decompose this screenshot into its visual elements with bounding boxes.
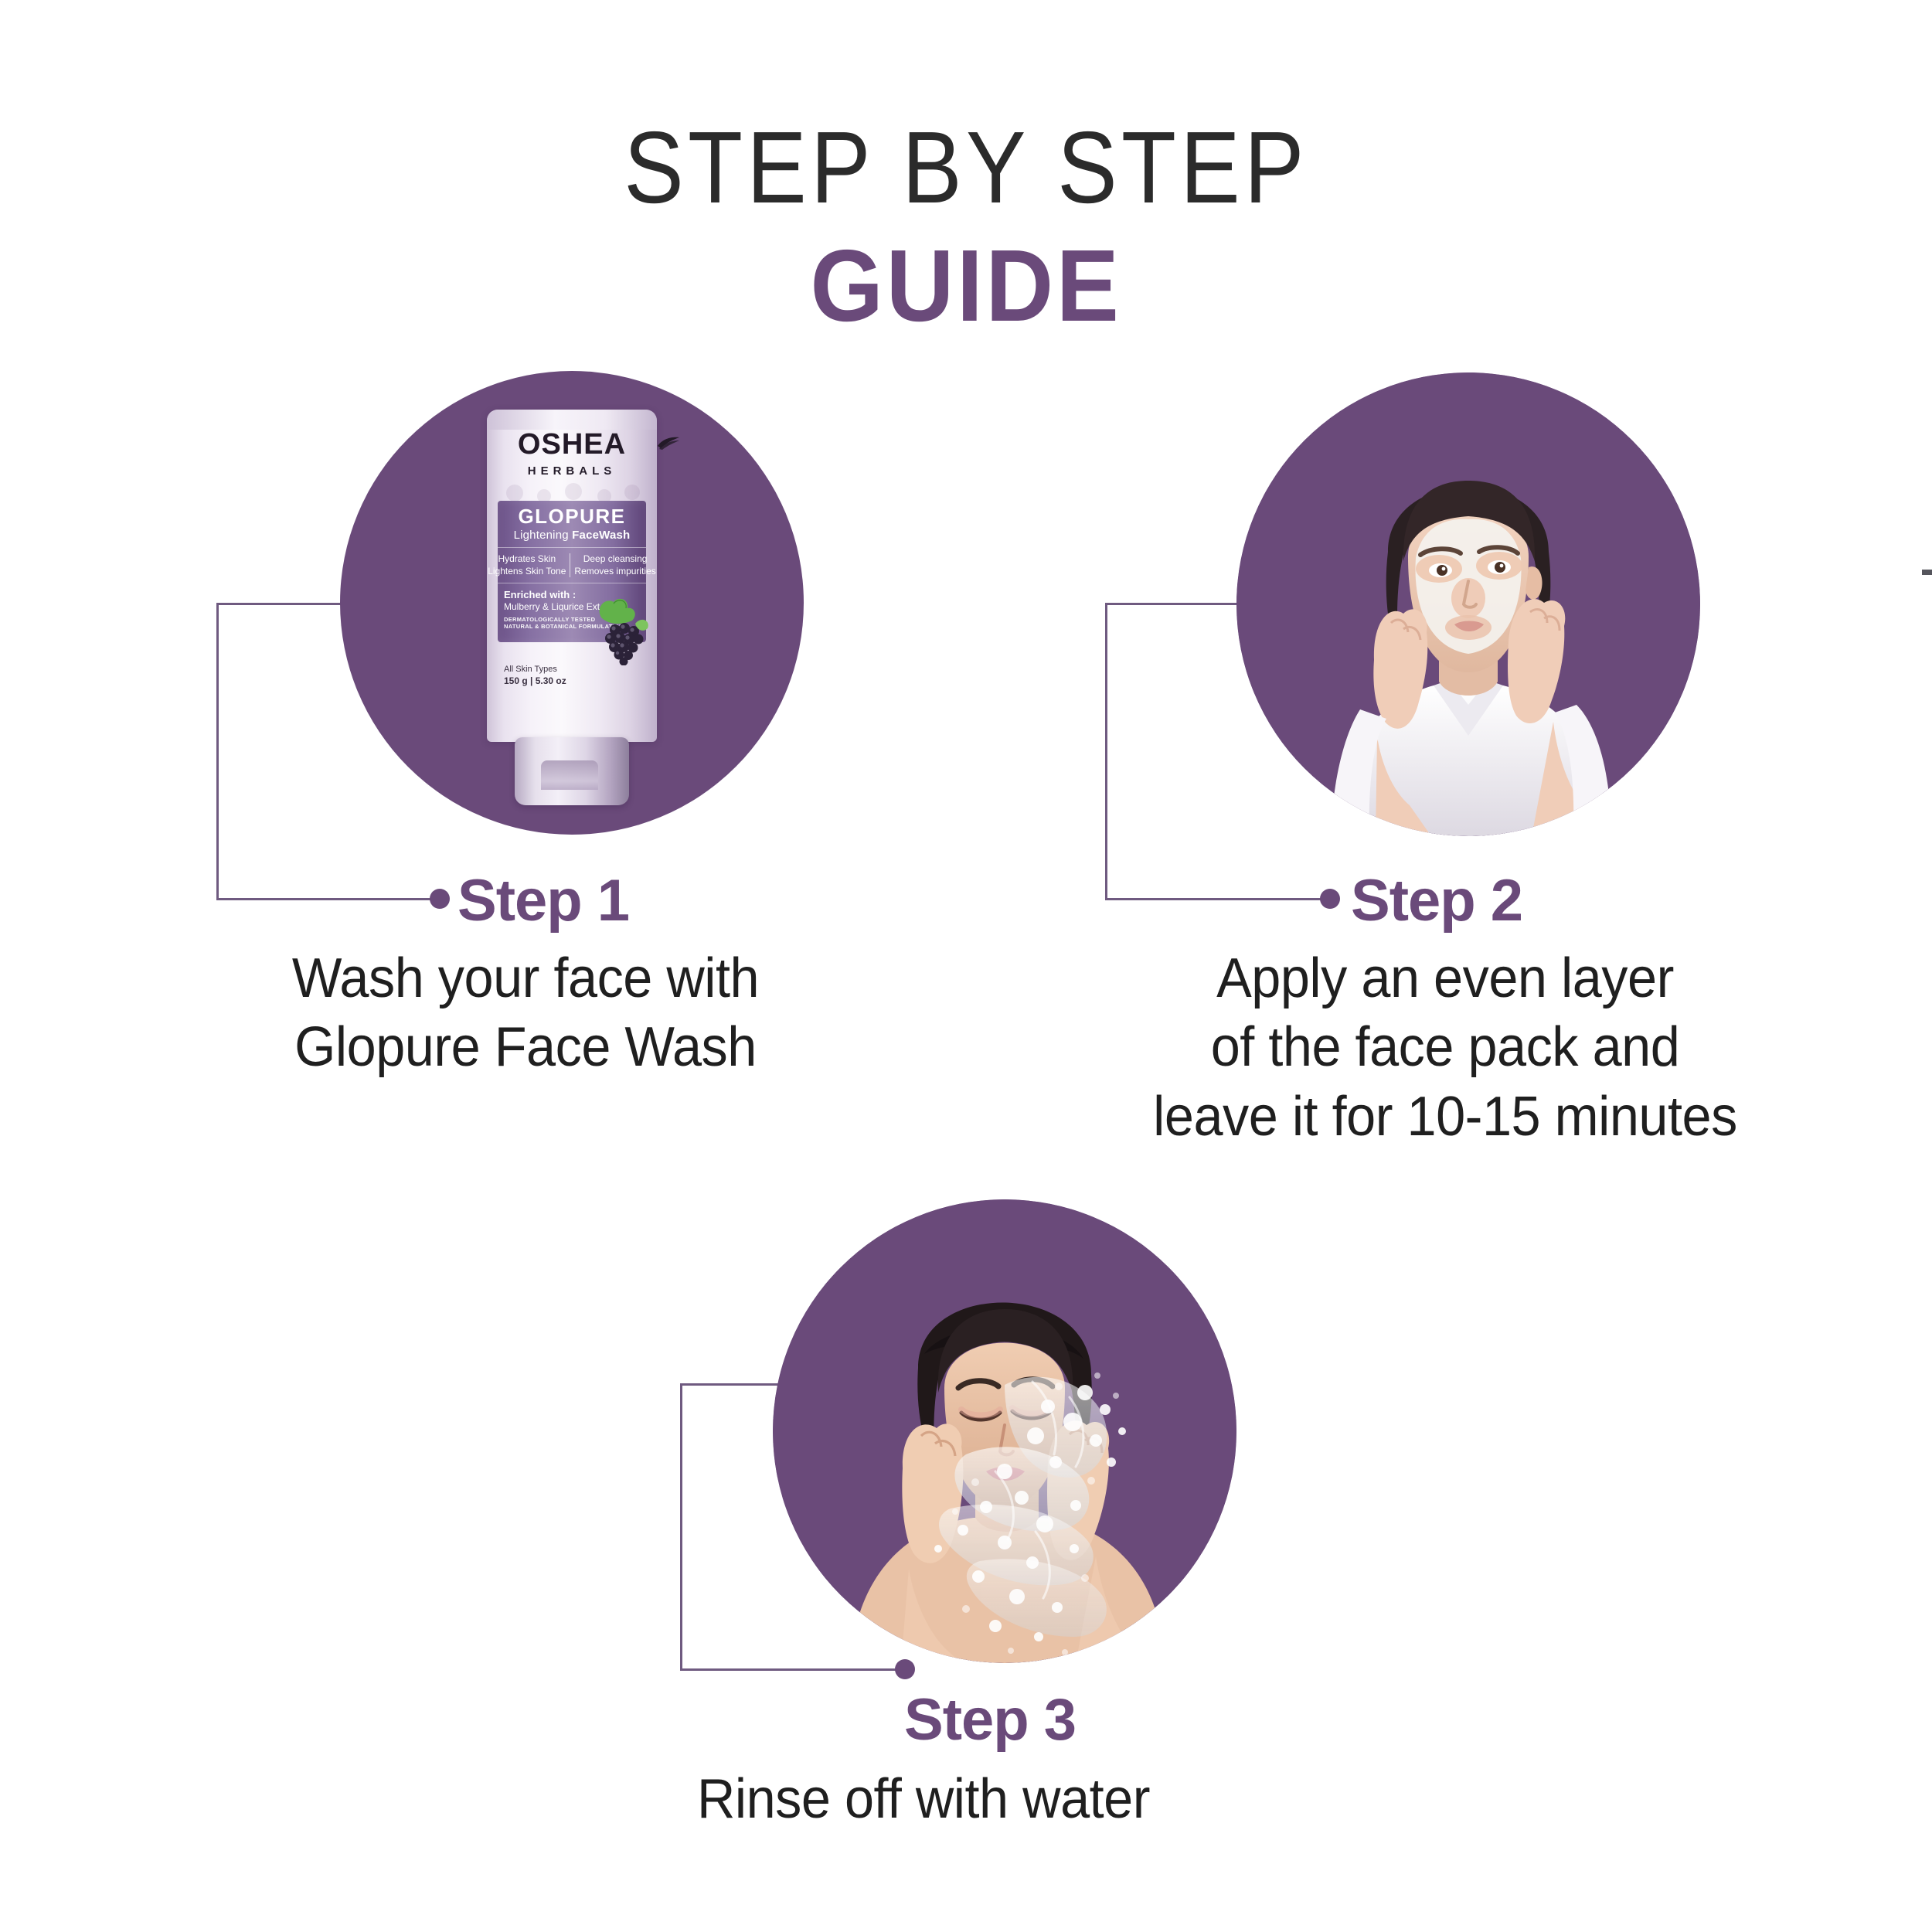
step-3-description: Rinse off with water	[502, 1765, 1346, 1834]
step-2-label: Step 2	[1351, 867, 1522, 934]
step-3-block: Step 3 Rinse off with water	[479, 1144, 1484, 1917]
tube-footer-text: All Skin Types 150 g | 5.30 oz	[504, 665, 566, 687]
connector-dot	[430, 889, 450, 909]
net-weight: 150 g | 5.30 oz	[504, 675, 566, 687]
connector-vertical-line	[1105, 603, 1107, 900]
step-2-description: Apply an even layer of the face pack and…	[1034, 944, 1856, 1151]
benefit-item: Removes impurities	[574, 566, 655, 578]
step-description-line: of the face pack and	[1034, 1013, 1856, 1082]
connector-bottom-line	[680, 1668, 903, 1671]
step-1-circle: OSHEA HERBALS GLOPURE Lightening FaceWas…	[340, 371, 804, 835]
product-benefits-section: Hydrates Skin Lightens Skin Tone Deep cl…	[498, 548, 646, 583]
step-description-line: Glopure Face Wash	[151, 1013, 900, 1082]
connector-vertical-line	[216, 603, 219, 900]
product-name: GLOPURE	[504, 506, 640, 527]
product-enriched-section: Enriched with : Mulberry & Liqurice Ext.…	[498, 583, 646, 642]
product-name-section: GLOPURE Lightening FaceWash	[498, 501, 646, 548]
tube-cap	[515, 737, 629, 805]
brand-logo: OSHEA HERBALS	[481, 428, 663, 478]
infographic-page: STEP BY STEP GUIDE	[0, 0, 1932, 1932]
woman-applying-face-pack-image	[1236, 372, 1700, 836]
step-3-circle	[773, 1199, 1236, 1663]
product-subtitle-light: Lightening	[514, 529, 573, 542]
connector-bottom-line	[1105, 898, 1328, 900]
step-1-block: OSHEA HERBALS GLOPURE Lightening FaceWas…	[0, 0, 966, 1082]
step-description-line: leave it for 10-15 minutes	[1034, 1083, 1856, 1151]
product-label-panel: GLOPURE Lightening FaceWash Hydrates Ski…	[498, 501, 646, 642]
brand-subtitle: HERBALS	[481, 464, 663, 478]
brand-name: OSHEA	[518, 428, 626, 461]
step-description-line: Apply an even layer	[1034, 944, 1856, 1013]
blackberry-icon	[587, 594, 654, 665]
edge-tick-mark	[1922, 570, 1932, 575]
tube-shoulder	[487, 410, 657, 430]
connector-vertical-line	[680, 1383, 682, 1671]
connector-dot	[1320, 889, 1340, 909]
product-subtitle: Lightening FaceWash	[504, 529, 640, 542]
step-1-label: Step 1	[457, 867, 629, 934]
woman-splashing-water-image	[773, 1199, 1236, 1663]
benefit-item: Deep cleansing	[574, 553, 655, 566]
product-tube: OSHEA HERBALS GLOPURE Lightening FaceWas…	[481, 410, 663, 802]
step-description-line: Wash your face with	[151, 944, 900, 1013]
swoosh-icon	[657, 436, 680, 450]
step-3-label: Step 3	[904, 1686, 1076, 1753]
benefits-right-column: Deep cleansing Removes impurities	[570, 553, 659, 577]
benefit-item: Hydrates Skin	[488, 553, 566, 566]
step-2-circle	[1236, 372, 1700, 836]
step-description-line: Rinse off with water	[502, 1765, 1346, 1834]
connector-bottom-line	[216, 898, 437, 900]
skin-types: All Skin Types	[504, 665, 566, 675]
product-subtitle-bold: FaceWash	[572, 529, 630, 542]
step-2-block: Step 2 Apply an even layer of the face p…	[966, 0, 1932, 1159]
step-1-description: Wash your face with Glopure Face Wash	[151, 944, 900, 1083]
benefits-left-column: Hydrates Skin Lightens Skin Tone	[484, 553, 570, 577]
benefit-item: Lightens Skin Tone	[488, 566, 566, 578]
